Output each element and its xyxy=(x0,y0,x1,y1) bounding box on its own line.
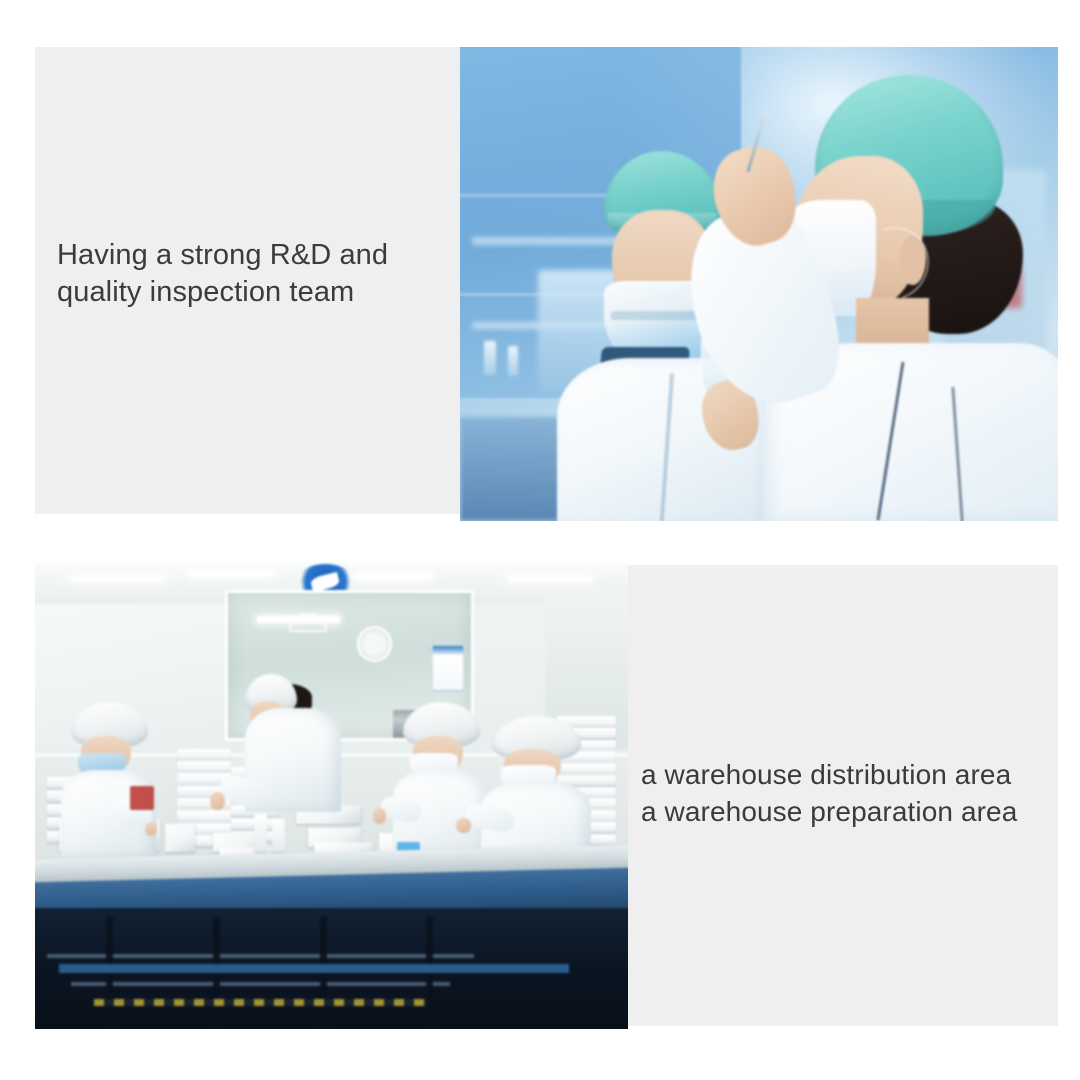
packing-worker xyxy=(403,702,480,856)
packing-worker xyxy=(71,702,148,856)
task-lamp xyxy=(289,613,327,631)
packing-worker xyxy=(492,716,581,865)
bottom-caption-text: a warehouse distribution area a warehous… xyxy=(641,756,1061,830)
wall-clock xyxy=(357,626,393,662)
page-root: Having a strong R&D and quality inspecti… xyxy=(0,0,1080,1080)
packing-worker xyxy=(248,674,331,842)
rd-quality-inspection-photo xyxy=(460,47,1058,521)
warehouse-packing-photo xyxy=(35,562,628,1029)
blue-rail xyxy=(59,964,569,973)
red-item xyxy=(130,786,154,809)
top-caption-text: Having a strong R&D and quality inspecti… xyxy=(57,237,457,311)
bottom-section: a warehouse distribution area a warehous… xyxy=(35,562,1058,1029)
lab-scene xyxy=(460,47,1058,521)
bottom-caption-panel: a warehouse distribution area a warehous… xyxy=(628,565,1058,1026)
lab-worker-profile xyxy=(735,75,1058,521)
top-caption-panel: Having a strong R&D and quality inspecti… xyxy=(35,47,461,514)
packing-room-scene xyxy=(35,562,628,1029)
top-section: Having a strong R&D and quality inspecti… xyxy=(35,47,1058,521)
notice-board xyxy=(432,645,463,690)
hazard-stripe xyxy=(94,999,426,1006)
